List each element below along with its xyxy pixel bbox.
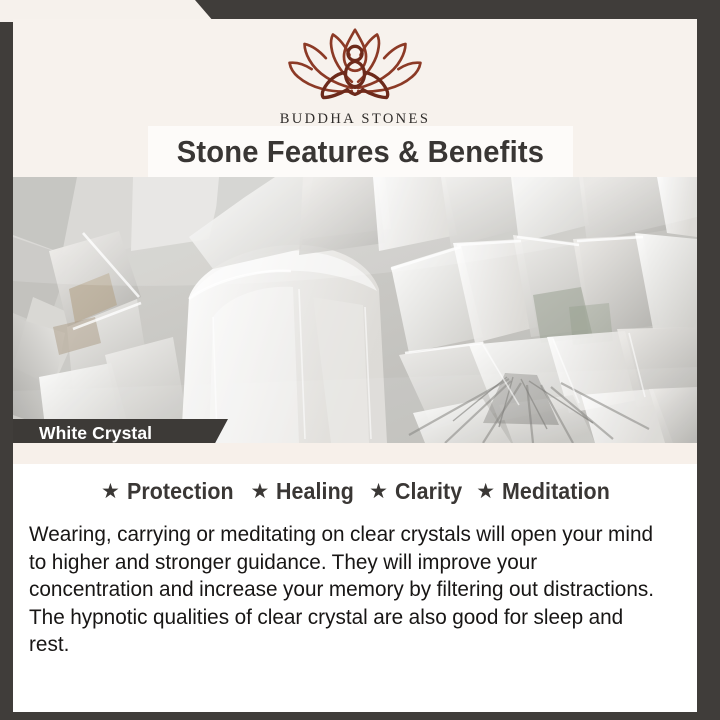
description-text: Wearing, carrying or meditating on clear… <box>29 521 658 659</box>
benefit-item-protection: ★ Protection <box>92 478 242 505</box>
benefit-label: Protection <box>127 478 234 505</box>
lotus-meditation-figure-icon <box>275 25 435 107</box>
brand-logo: BUDDHA STONES <box>13 25 697 128</box>
under-photo-strip <box>13 443 697 464</box>
benefit-item-meditation: ★ Meditation <box>467 478 618 505</box>
star-icon: ★ <box>369 481 388 502</box>
page-title: Stone Features & Benefits <box>177 134 544 170</box>
star-icon: ★ <box>251 481 270 502</box>
star-icon: ★ <box>476 481 495 502</box>
benefits-row: ★ Protection ★ Healing ★ Clarity ★ Medit… <box>13 478 697 505</box>
benefit-label: Meditation <box>502 478 610 505</box>
card-surface: BUDDHA STONES Stone Features & Benefits <box>13 19 697 712</box>
title-plate: Stone Features & Benefits <box>148 126 573 177</box>
star-icon: ★ <box>101 481 120 502</box>
benefit-item-clarity: ★ Clarity <box>360 478 467 505</box>
benefit-label: Healing <box>276 478 354 505</box>
benefit-label: Clarity <box>395 478 462 505</box>
infographic-card: BUDDHA STONES Stone Features & Benefits <box>0 0 720 720</box>
stone-label-text: White Crystal <box>13 423 152 444</box>
crystal-photo-illustration <box>13 177 697 443</box>
description-panel: ★ Protection ★ Healing ★ Clarity ★ Medit… <box>13 464 697 712</box>
benefit-item-healing: ★ Healing <box>242 478 361 505</box>
crystal-photo <box>13 177 697 443</box>
brand-header: BUDDHA STONES Stone Features & Benefits <box>13 19 697 177</box>
